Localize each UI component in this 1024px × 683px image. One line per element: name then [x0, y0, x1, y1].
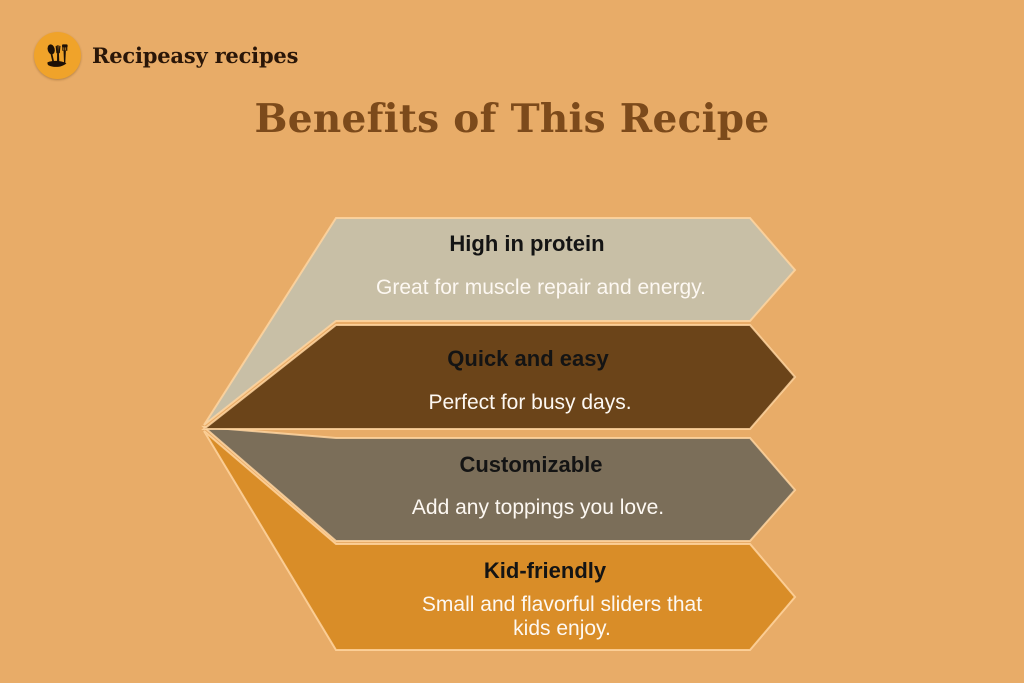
band-description-line-2: kids enjoy. — [513, 617, 611, 640]
band-description: Add any toppings you love. — [412, 496, 664, 519]
band-description: Small and flavorful sliders that — [422, 593, 702, 616]
benefits-infographic: Kid-friendly Small and flavorful sliders… — [0, 0, 1024, 683]
band-description: Perfect for busy days. — [428, 391, 631, 414]
band-title: Customizable — [459, 452, 602, 477]
band-description: Great for muscle repair and energy. — [376, 276, 706, 299]
band-title: Kid-friendly — [484, 558, 607, 583]
band-title: Quick and easy — [447, 346, 609, 371]
band-title: High in protein — [449, 231, 604, 256]
